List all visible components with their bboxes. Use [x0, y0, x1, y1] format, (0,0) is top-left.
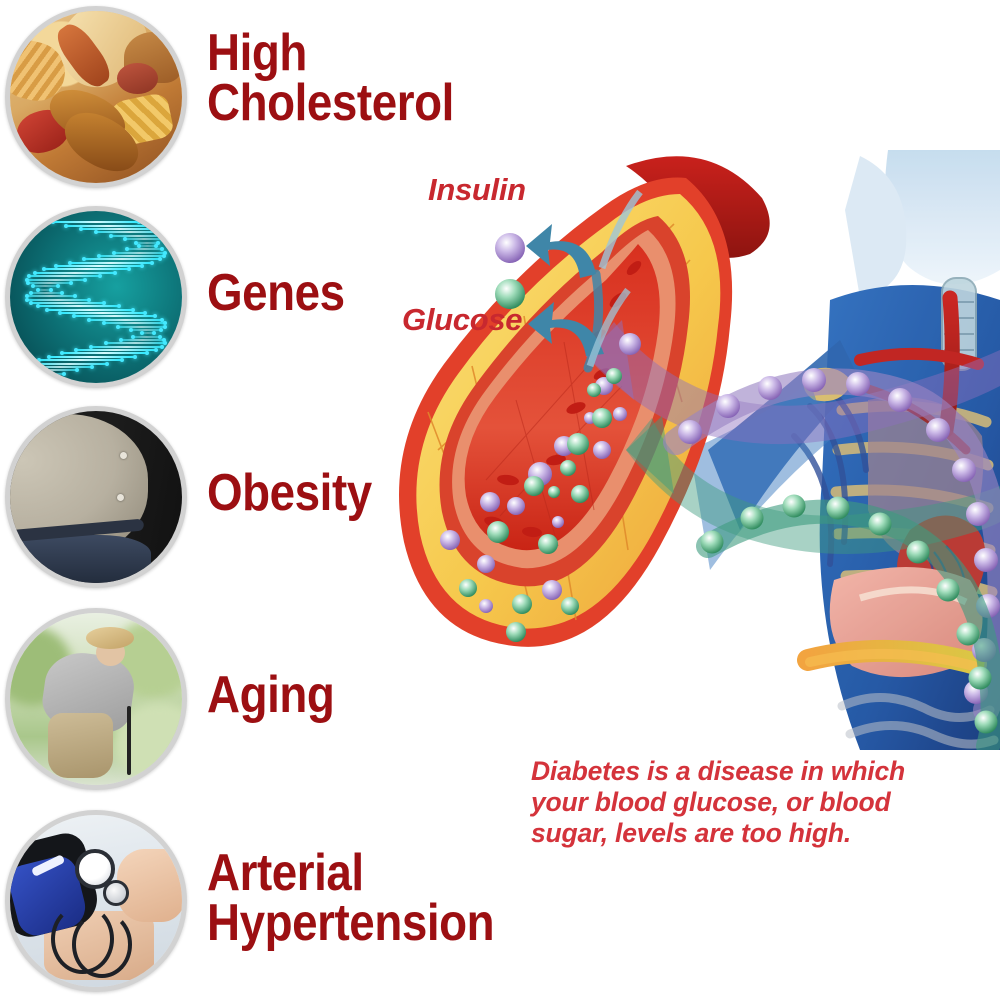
elderly-man-icon	[10, 613, 182, 785]
factor-label-obesity: Obesity	[207, 468, 372, 518]
factor-label-high-cholesterol: High Cholesterol	[207, 28, 454, 129]
factor-label-arterial-hypertension: Arterial Hypertension	[207, 848, 494, 949]
insulin-sample-sphere	[495, 233, 525, 263]
factor-label-aging: Aging	[207, 670, 334, 720]
dna-helix-icon	[10, 211, 182, 383]
diabetes-caption: Diabetes is a disease in which your bloo…	[531, 756, 961, 849]
diabetes-illustration: Insulin Glucose	[390, 150, 1000, 750]
glucose-label: Glucose	[402, 302, 522, 338]
obese-abdomen-icon	[10, 411, 182, 583]
factor-thumb-obesity	[5, 406, 187, 588]
factor-thumb-genes	[5, 206, 187, 388]
factor-thumb-arterial-hypertension	[5, 810, 187, 992]
factor-thumb-aging	[5, 608, 187, 790]
infographic-canvas: High Cholesterol Genes Obesity	[0, 0, 1000, 1000]
insulin-label: Insulin	[428, 172, 526, 208]
fast-food-icon	[10, 11, 182, 183]
blood-pressure-cuff-icon	[10, 815, 182, 987]
factor-thumb-high-cholesterol	[5, 6, 187, 188]
factor-label-genes: Genes	[207, 268, 345, 318]
